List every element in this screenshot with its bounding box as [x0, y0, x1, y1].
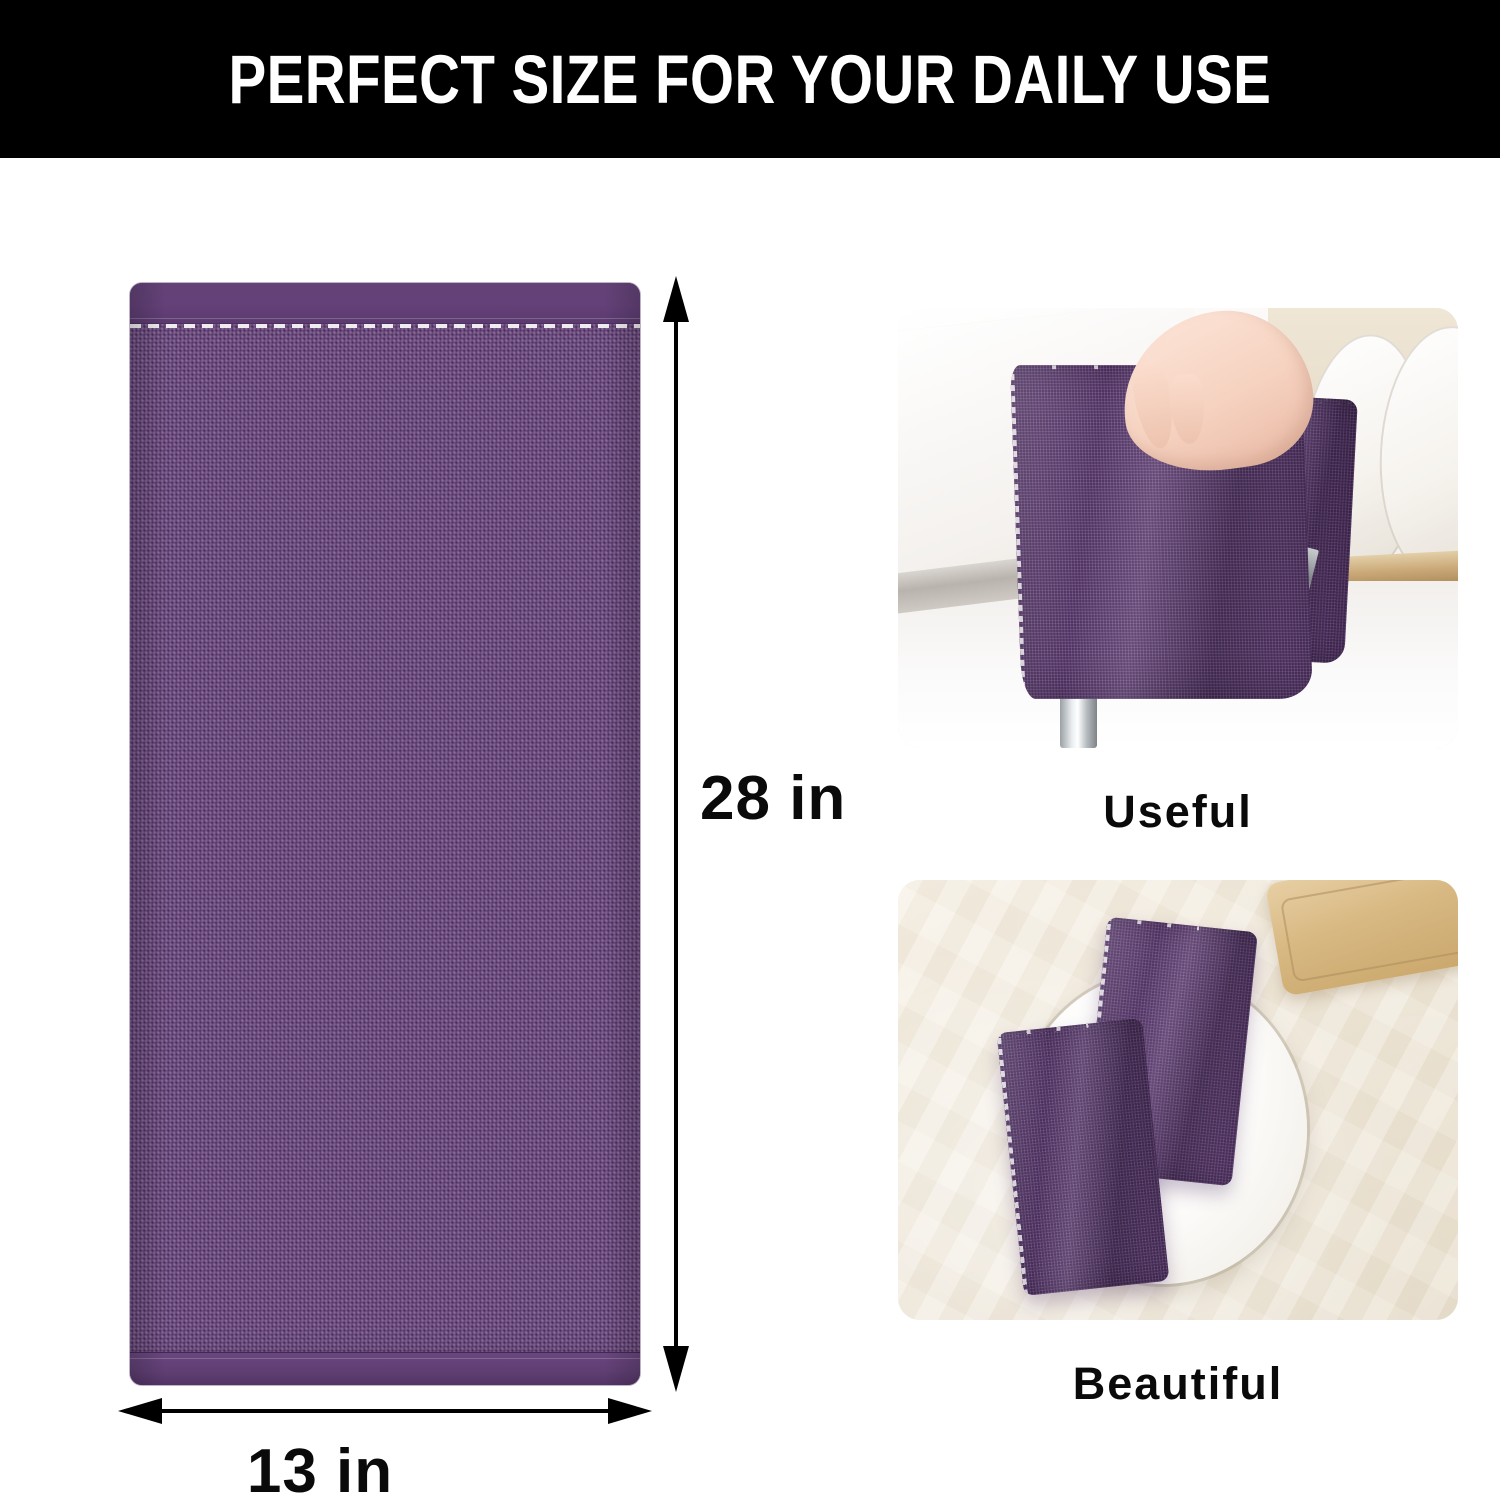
- product-dimension-panel: 28 in 13 in: [0, 158, 880, 1486]
- fold-shading: [997, 1018, 1169, 1296]
- photo-hand-holding-towel: [898, 308, 1458, 748]
- towel-hem-top: [130, 283, 640, 324]
- header-banner: PERFECT SIZE FOR YOUR DAILY USE: [0, 0, 1500, 158]
- height-dimension-label: 28 in: [700, 763, 846, 834]
- width-dimension-arrow: [118, 1388, 652, 1434]
- folded-towel-front: [997, 1018, 1169, 1296]
- lifestyle-photo-column: Useful: [880, 158, 1500, 1486]
- hem-stitch-line: [130, 318, 640, 319]
- caption-beautiful: Beautiful: [898, 1358, 1458, 1410]
- photo-folded-towels-on-plate: [898, 880, 1458, 1320]
- towel-hem-bottom: [130, 1352, 640, 1385]
- hem-stitch-line: [130, 1358, 640, 1359]
- dish-rack-post: [1430, 484, 1443, 563]
- width-dimension-label: 13 in: [0, 1436, 640, 1507]
- content-stage: 28 in 13 in: [0, 158, 1500, 1486]
- caption-useful: Useful: [898, 786, 1458, 838]
- product-towel-image: [130, 283, 640, 1385]
- cutting-board-groove: [1280, 880, 1458, 983]
- height-dimension-arrow: [652, 276, 700, 1392]
- photo-card-useful: [898, 308, 1458, 748]
- check-pattern-horizontal-lines: [130, 323, 640, 1355]
- page-title: PERFECT SIZE FOR YOUR DAILY USE: [229, 45, 1272, 114]
- photo-card-beautiful: [898, 880, 1458, 1320]
